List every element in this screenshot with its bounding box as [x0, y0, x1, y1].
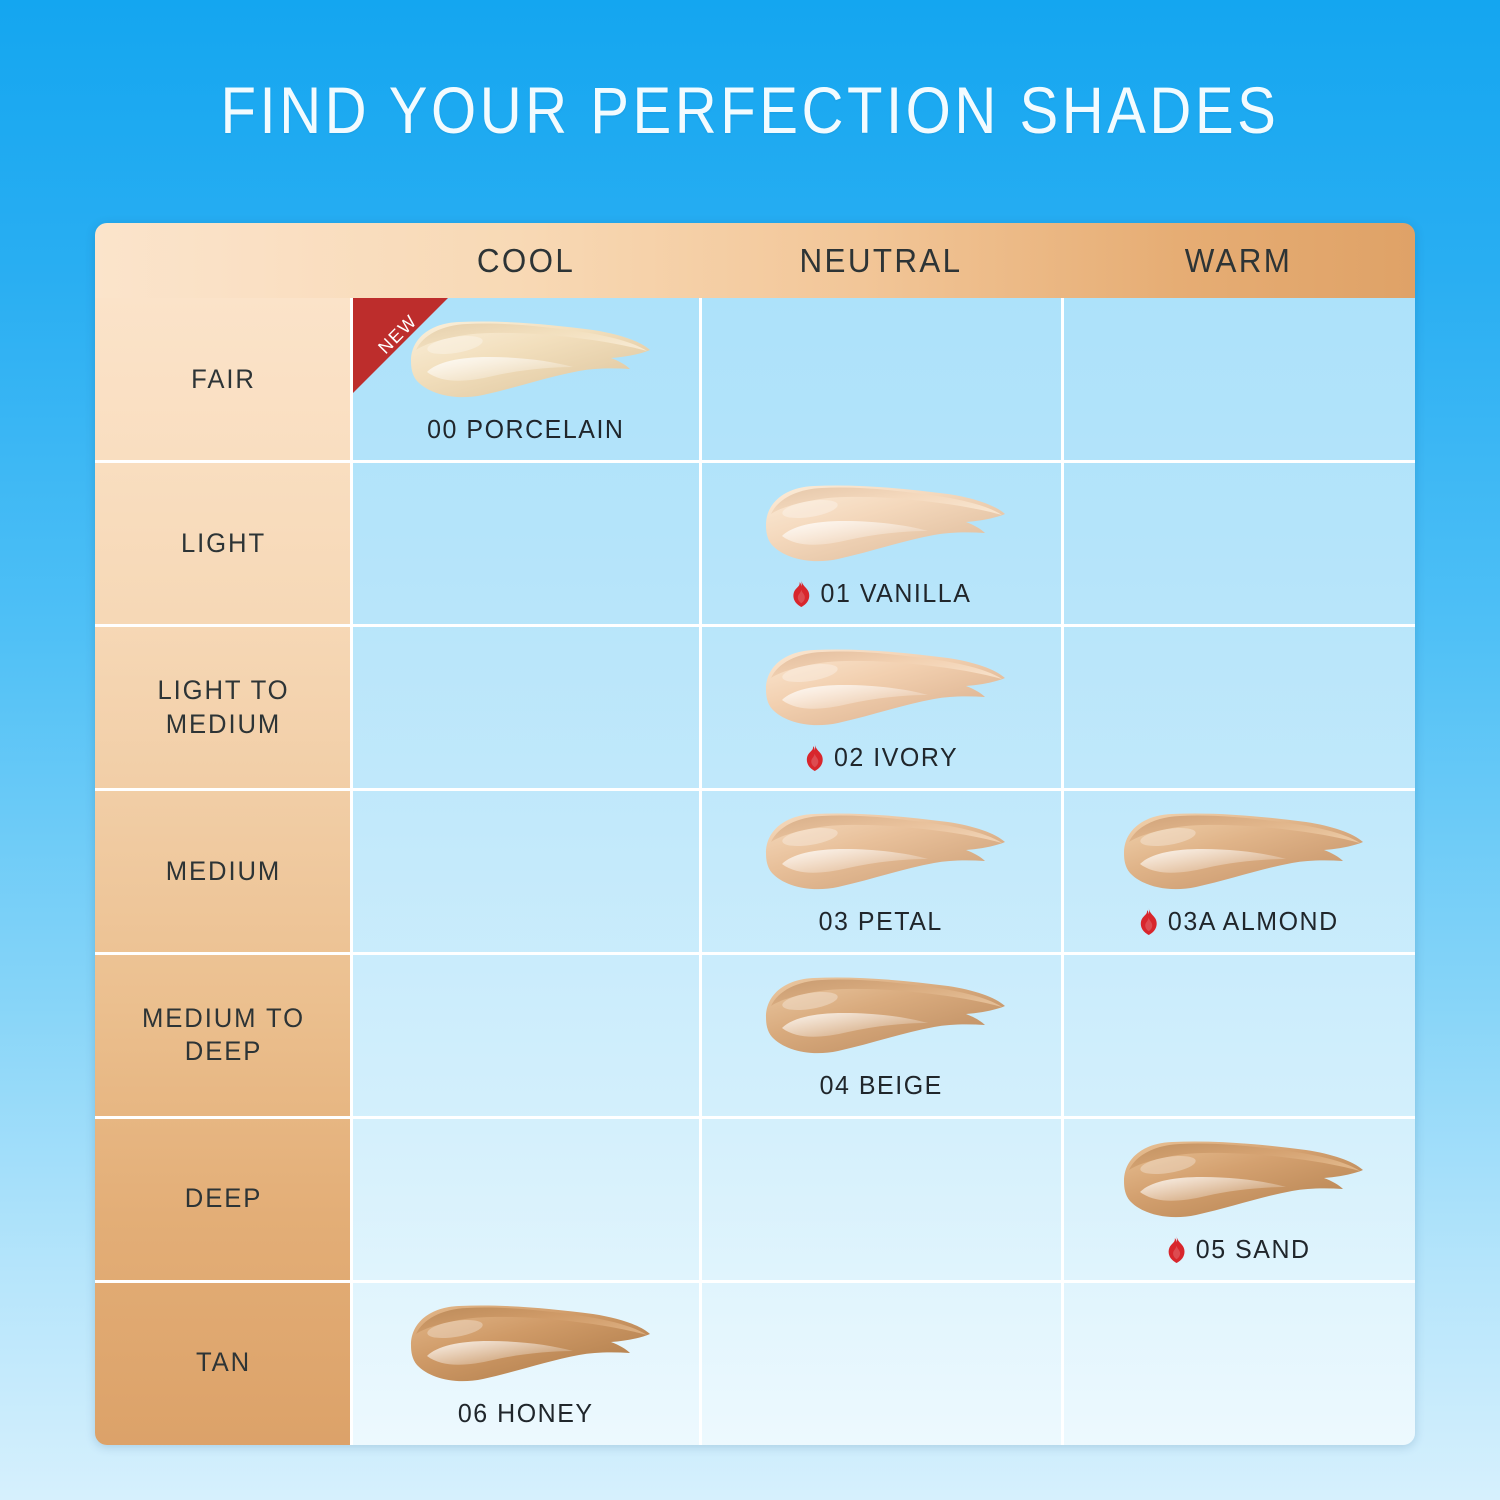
column-header-neutral: NEUTRAL	[709, 223, 1053, 298]
cell-deep-neutral	[700, 1117, 1062, 1281]
column-header-cool: COOL	[361, 223, 692, 298]
tone-label-deep: DEEP	[101, 1117, 345, 1281]
shade-swatch-00-porcelain[interactable]	[397, 314, 655, 406]
cell-deep-cool	[352, 1117, 700, 1281]
shade-swatch-03a-almond[interactable]	[1110, 806, 1368, 898]
shade-label: 03A ALMOND	[1138, 906, 1339, 937]
shade-code-text: 06 HONEY	[458, 1398, 594, 1429]
shade-swatch-01-vanilla[interactable]	[752, 478, 1010, 570]
cell-light-to-medium-cool	[352, 626, 700, 790]
cell-deep-warm[interactable]: 05 SAND	[1062, 1117, 1415, 1281]
shade-label: 04 BEIGE	[819, 1070, 942, 1101]
shade-code-text: 03A ALMOND	[1168, 906, 1339, 937]
shade-label: 03 PETAL	[819, 906, 943, 937]
cell-tan-warm	[1062, 1281, 1415, 1445]
table-body: FAIR 00 PORCELAINNEWL	[95, 298, 1415, 1445]
cell-medium-cool	[352, 790, 700, 954]
shade-code-text: 02 IVORY	[834, 742, 958, 773]
table-row: TAN 06 HONEY	[95, 1281, 1415, 1445]
table-row: LIGHT TO MEDIUM	[95, 626, 1415, 790]
shade-label: 01 VANILLA	[791, 578, 972, 609]
gridline-vertical-3	[1061, 298, 1064, 1445]
cell-light-neutral[interactable]: 01 VANILLA	[700, 462, 1062, 626]
tone-label-fair: FAIR	[101, 298, 345, 462]
gridline-horizontal	[95, 460, 1415, 463]
shade-code-text: 04 BEIGE	[819, 1070, 942, 1101]
cell-fair-neutral	[700, 298, 1062, 462]
tone-label-medium-to-deep: MEDIUM TO DEEP	[101, 953, 345, 1117]
cell-medium-neutral[interactable]: 03 PETAL	[700, 790, 1062, 954]
shade-label: 06 HONEY	[458, 1398, 594, 1429]
cell-light-warm	[1062, 462, 1415, 626]
cell-tan-cool[interactable]: 06 HONEY	[352, 1281, 700, 1445]
shade-label: 05 SAND	[1166, 1234, 1311, 1265]
shade-swatch-06-honey[interactable]	[397, 1298, 655, 1390]
shade-matrix-table: COOL NEUTRAL WARM FAIR	[95, 223, 1415, 1445]
table-row: MEDIUM TO DEEP 04 BEI	[95, 953, 1415, 1117]
cell-medium-to-deep-neutral[interactable]: 04 BEIGE	[700, 953, 1062, 1117]
cell-medium-warm[interactable]: 03A ALMOND	[1062, 790, 1415, 954]
header-corner-blank	[95, 223, 352, 298]
gridline-horizontal	[95, 1116, 1415, 1119]
shade-code-text: 05 SAND	[1196, 1234, 1311, 1265]
shade-code-text: 00 PORCELAIN	[427, 414, 624, 445]
gridline-horizontal	[95, 1280, 1415, 1283]
flame-icon	[804, 744, 825, 771]
page-title: FIND YOUR PERFECTION SHADES	[90, 72, 1410, 148]
shade-code-text: 03 PETAL	[819, 906, 943, 937]
column-header-warm: WARM	[1071, 223, 1406, 298]
cell-medium-to-deep-cool	[352, 953, 700, 1117]
cell-light-to-medium-neutral[interactable]: 02 IVORY	[700, 626, 1062, 790]
table-row: LIGHT 01 VANIL	[95, 462, 1415, 626]
shade-label: 00 PORCELAIN	[427, 414, 624, 445]
shade-code-text: 01 VANILLA	[820, 578, 971, 609]
flame-icon	[1166, 1236, 1187, 1263]
table-header-row: COOL NEUTRAL WARM	[95, 223, 1415, 298]
shade-swatch-05-sand[interactable]	[1110, 1134, 1368, 1226]
cell-fair-warm	[1062, 298, 1415, 462]
tone-label-medium: MEDIUM	[101, 790, 345, 954]
gridline-vertical-2	[699, 298, 702, 1445]
flame-icon	[1138, 908, 1159, 935]
tone-label-tan: TAN	[101, 1281, 345, 1445]
table-row: MEDIUM 03 PETAL	[95, 790, 1415, 954]
cell-light-cool	[352, 462, 700, 626]
table-row: DEEP 05 SAND	[95, 1117, 1415, 1281]
shade-swatch-04-beige[interactable]	[752, 970, 1010, 1062]
gridline-vertical-1	[350, 298, 353, 1445]
cell-tan-neutral	[700, 1281, 1062, 1445]
shade-label: 02 IVORY	[804, 742, 958, 773]
gridline-horizontal	[95, 952, 1415, 955]
cell-medium-to-deep-warm	[1062, 953, 1415, 1117]
cell-fair-cool[interactable]: 00 PORCELAINNEW	[352, 298, 700, 462]
cell-light-to-medium-warm	[1062, 626, 1415, 790]
tone-label-light: LIGHT	[101, 462, 345, 626]
gridline-horizontal	[95, 624, 1415, 627]
gridline-horizontal	[95, 788, 1415, 791]
table-row: FAIR 00 PORCELAINNEW	[95, 298, 1415, 462]
shade-swatch-03-petal[interactable]	[752, 806, 1010, 898]
flame-icon	[791, 580, 812, 607]
tone-label-light-to-medium: LIGHT TO MEDIUM	[101, 626, 345, 790]
shade-swatch-02-ivory[interactable]	[752, 642, 1010, 734]
